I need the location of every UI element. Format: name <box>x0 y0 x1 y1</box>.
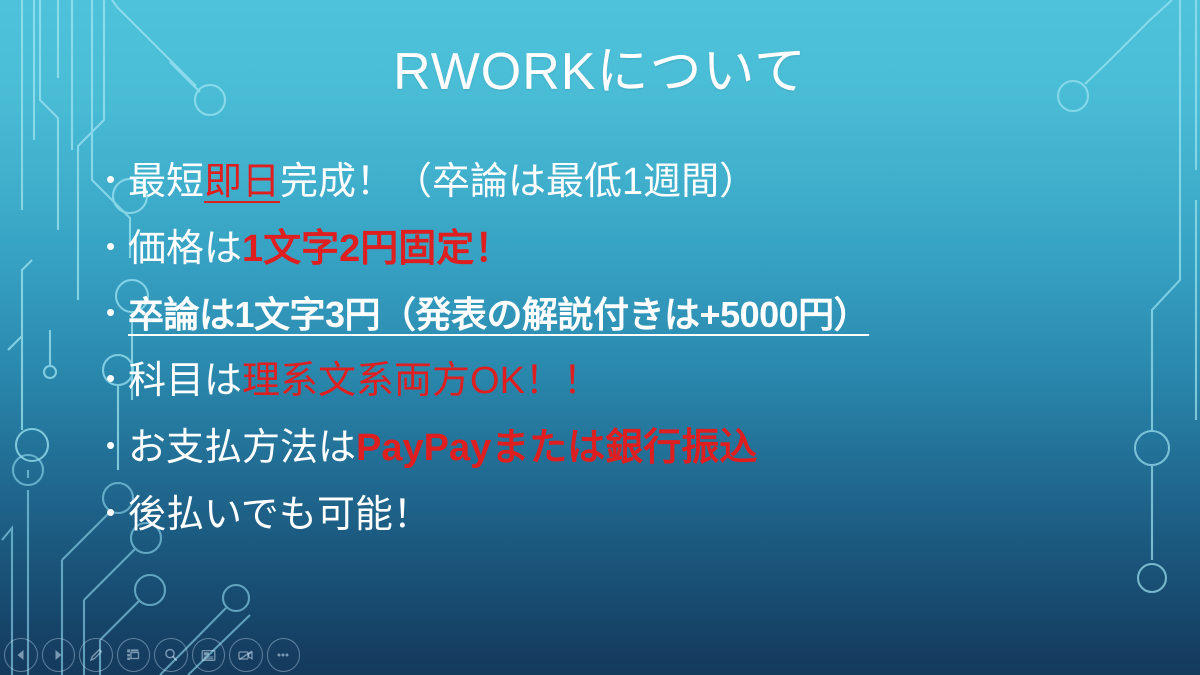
bullet-6-text: 後払いでも可能！ <box>128 496 431 534</box>
list-item: • 後払いでも可能！ <box>106 496 1106 534</box>
bullet-4-segment-2: 理系文系両方OK！！ <box>242 360 601 402</box>
previous-slide-button[interactable] <box>4 638 38 672</box>
next-slide-icon <box>50 647 66 663</box>
bullet-3-text: 卒論は1文字3円（発表の解説付きは+5000円） <box>128 297 869 333</box>
bullet-6-segment-1: 後払いでも可能！ <box>128 494 431 536</box>
bullet-list: • 最短即日完成！（卒論は最低1週間） • 価格は1文字2円固定！ • 卒論は1… <box>106 163 1106 563</box>
list-item: • 卒論は1文字3円（発表の解説付きは+5000円） <box>106 297 1106 333</box>
presentation-slide: RWORKについて • 最短即日完成！（卒論は最低1週間） • 価格は1文字2円… <box>0 0 1200 675</box>
zoom-icon <box>162 646 180 664</box>
pen-icon <box>87 646 105 664</box>
bullet-5-segment-1: お支払方法は <box>128 427 356 469</box>
bullet-1-segment-3: 完成！（卒論は最低1週間） <box>280 161 757 203</box>
bullet-1-segment-2: 即日 <box>204 161 280 203</box>
slideshow-toolbar <box>0 635 300 675</box>
list-item: • 価格は1文字2円固定！ <box>106 230 1106 268</box>
bullet-point-icon: • <box>106 432 128 458</box>
presenter-view-icon <box>199 646 218 665</box>
presenter-view-button[interactable] <box>192 638 226 672</box>
camera-off-icon <box>236 646 255 665</box>
bullet-point-icon: • <box>106 233 128 259</box>
zoom-button[interactable] <box>154 638 188 672</box>
bullet-2-text: 価格は1文字2円固定！ <box>128 230 512 268</box>
next-slide-button[interactable] <box>42 638 76 672</box>
all-slides-button[interactable] <box>117 638 151 672</box>
more-options-button[interactable] <box>267 638 301 672</box>
bullet-1-text: 最短即日完成！（卒論は最低1週間） <box>128 163 757 201</box>
list-item: • 最短即日完成！（卒論は最低1週間） <box>106 163 1106 201</box>
bullet-point-icon: • <box>106 166 128 192</box>
previous-slide-icon <box>13 647 29 663</box>
bullet-1-segment-1: 最短 <box>128 161 204 203</box>
bullet-3-segment-1: 卒論は1文字3円（発表の解説付きは+5000円） <box>128 294 869 335</box>
pen-button[interactable] <box>79 638 113 672</box>
camera-off-button[interactable] <box>229 638 263 672</box>
bullet-4-text: 科目は理系文系両方OK！！ <box>128 362 601 400</box>
bullet-point-icon: • <box>106 365 128 391</box>
bullet-4-segment-1: 科目は <box>128 360 242 402</box>
more-options-icon <box>274 646 292 664</box>
bullet-5-text: お支払方法はPayPayまたは銀行振込 <box>128 429 757 467</box>
bullet-2-segment-2: 1文字2円固定！ <box>242 228 512 270</box>
bullet-2-segment-1: 価格は <box>128 228 242 270</box>
all-slides-icon <box>124 646 142 664</box>
bullet-point-icon: • <box>106 499 128 525</box>
list-item: • 科目は理系文系両方OK！！ <box>106 362 1106 400</box>
bullet-point-icon: • <box>106 299 128 325</box>
list-item: • お支払方法はPayPayまたは銀行振込 <box>106 429 1106 467</box>
bullet-5-segment-2: PayPayまたは銀行振込 <box>356 427 757 469</box>
slide-title: RWORKについて <box>0 44 1200 101</box>
